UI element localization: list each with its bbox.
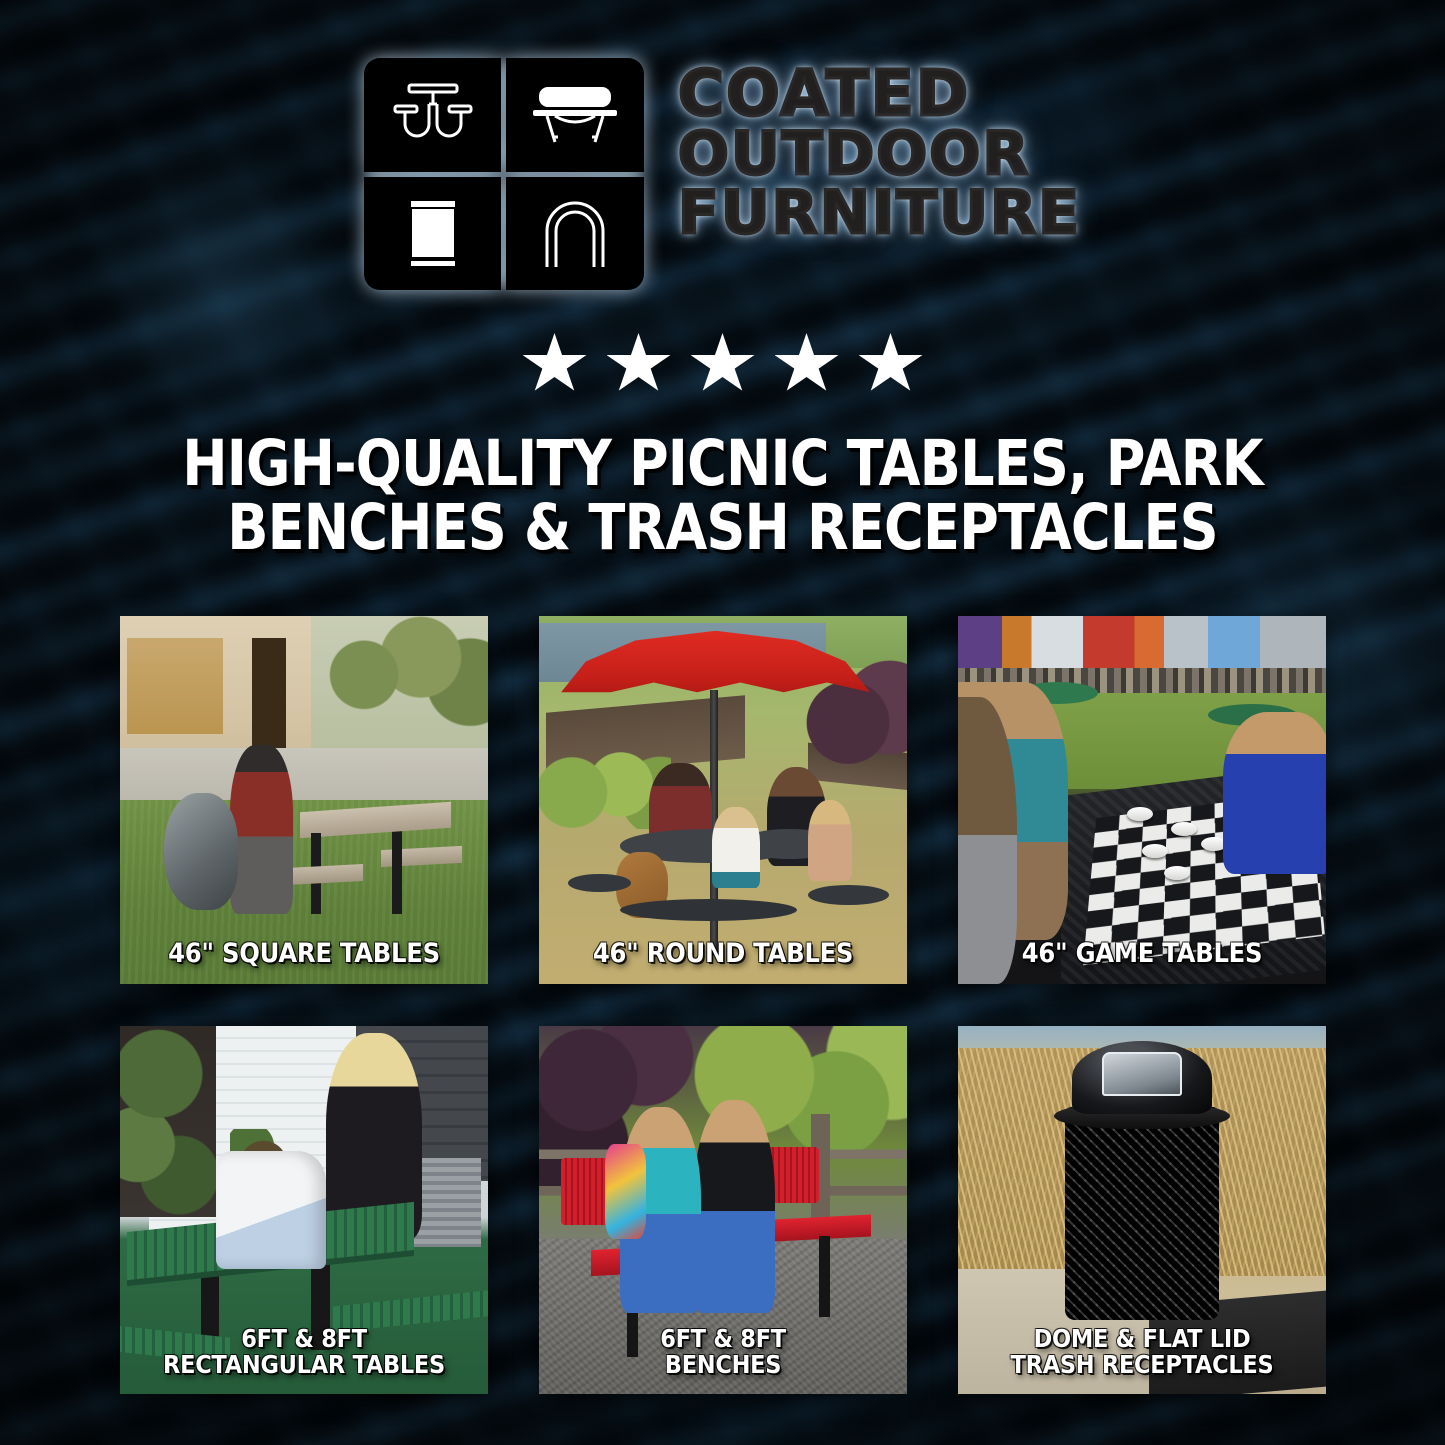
headline-line-1: HIGH-QUALITY PICNIC TABLES, PARK (153, 432, 1293, 496)
trash-receptacle-icon (364, 177, 502, 291)
caption-line-1: 46" SQUARE TABLES (146, 940, 463, 968)
product-caption: 6FT & 8FT RECTANGULAR TABLES (120, 1326, 488, 1379)
caption-line-1: 46" ROUND TABLES (565, 940, 882, 968)
caption-line-2: BENCHES (565, 1352, 882, 1378)
product-caption: 6FT & 8FT BENCHES (539, 1326, 907, 1379)
product-grid: 46" SQUARE TABLES (120, 616, 1327, 1394)
bike-rack-arch-icon (506, 177, 644, 291)
star-icon (523, 333, 587, 395)
caption-line-1: 6FT & 8FT (146, 1326, 463, 1352)
product-caption: DOME & FLAT LID TRASH RECEPTACLES (958, 1326, 1326, 1379)
product-photo-square-tables (120, 616, 488, 984)
brand-logo-block: COATED OUTDOOR FURNITURE (0, 58, 1445, 290)
headline: HIGH-QUALITY PICNIC TABLES, PARK BENCHES… (60, 432, 1385, 561)
product-caption: 46" GAME TABLES (958, 940, 1326, 968)
logo-icon-grid (364, 58, 644, 290)
caption-line-1: 6FT & 8FT (565, 1326, 882, 1352)
caption-line-1: 46" GAME TABLES (984, 940, 1301, 968)
bench-table-icon (506, 58, 644, 172)
product-card-game-tables[interactable]: 46" GAME TABLES (958, 616, 1326, 984)
caption-line-2: RECTANGULAR TABLES (146, 1352, 463, 1378)
product-photo-game-tables (958, 616, 1326, 984)
product-card-round-tables[interactable]: 46" ROUND TABLES (539, 616, 907, 984)
star-icon (607, 333, 671, 395)
product-photo-round-tables (539, 616, 907, 984)
caption-line-2: TRASH RECEPTACLES (984, 1352, 1301, 1378)
picnic-table-icon (364, 58, 502, 172)
star-icon (691, 333, 755, 395)
poster-canvas: COATED OUTDOOR FURNITURE HIGH-QUALITY PI… (0, 0, 1445, 1445)
product-card-rectangular-tables[interactable]: 6FT & 8FT RECTANGULAR TABLES (120, 1026, 488, 1394)
brand-wordmark: COATED OUTDOOR FURNITURE (678, 58, 1081, 242)
caption-line-1: DOME & FLAT LID (984, 1326, 1301, 1352)
wordmark-line-outdoor: OUTDOOR (678, 126, 1081, 183)
product-caption: 46" SQUARE TABLES (120, 940, 488, 968)
star-rating (0, 333, 1445, 395)
product-caption: 46" ROUND TABLES (539, 940, 907, 968)
product-card-trash-receptacles[interactable]: DOME & FLAT LID TRASH RECEPTACLES (958, 1026, 1326, 1394)
product-card-benches[interactable]: 6FT & 8FT BENCHES (539, 1026, 907, 1394)
star-icon (775, 333, 839, 395)
product-card-square-tables[interactable]: 46" SQUARE TABLES (120, 616, 488, 984)
star-icon (859, 333, 923, 395)
wordmark-line-furniture: FURNITURE (678, 185, 1081, 242)
headline-line-2: BENCHES & TRASH RECEPTACLES (153, 496, 1293, 560)
wordmark-line-coated: COATED (678, 64, 1081, 124)
